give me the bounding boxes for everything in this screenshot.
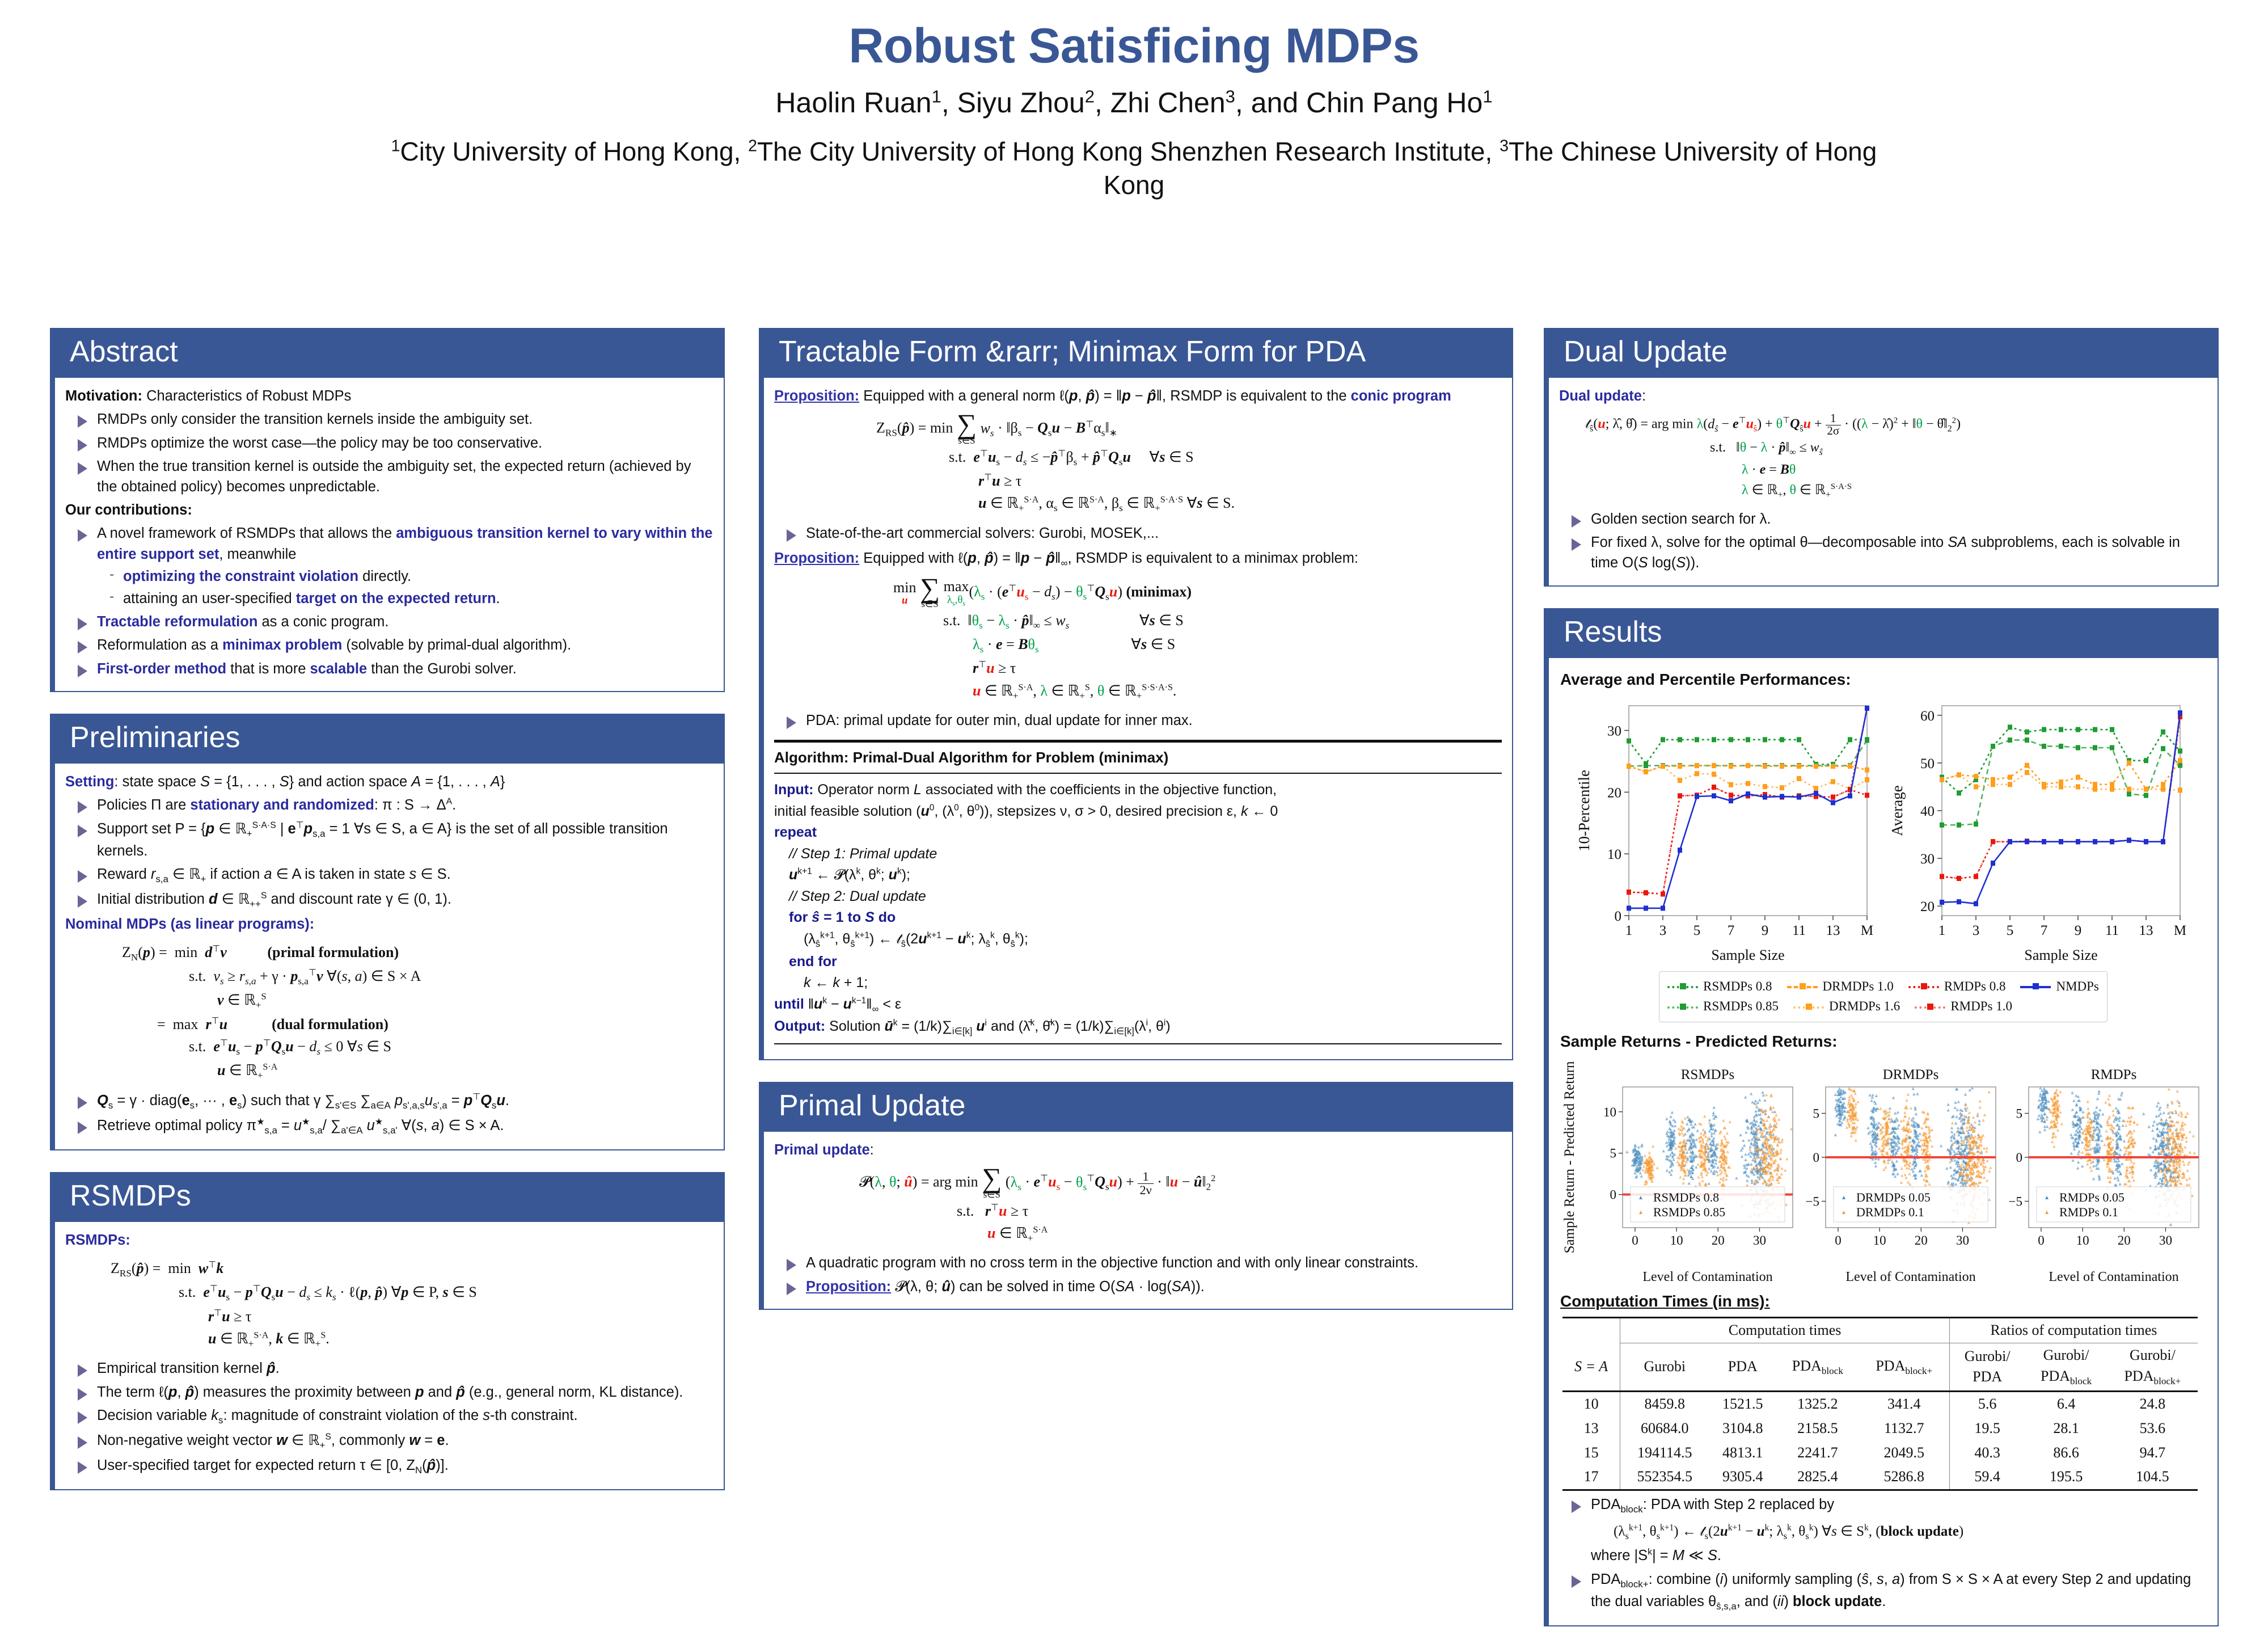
- list-item: For fixed λ, solve for the optimal θ—dec…: [1559, 532, 2207, 573]
- svg-text:Sample Size: Sample Size: [2024, 947, 2097, 963]
- table-col-ratio-pda: Gurobi/PDA: [1949, 1343, 2025, 1391]
- algorithm-output-label: Output:: [774, 1018, 825, 1034]
- proposition-1: Proposition: Equipped with a general nor…: [774, 386, 1502, 406]
- list-item: A quadratic program with no cross term i…: [774, 1253, 1502, 1273]
- svg-text:DRMDPs: DRMDPs: [1883, 1067, 1939, 1082]
- list-item: Initial distribution d ∈ ℝ++S and discou…: [65, 889, 713, 911]
- table-col-gurobi: Gurobi: [1620, 1343, 1709, 1391]
- primal-update-bullets: A quadratic program with no cross term i…: [774, 1253, 1502, 1296]
- table-cell: 9305.4: [1709, 1465, 1776, 1490]
- legend-label: DRMDPs 1.6: [1829, 997, 1900, 1016]
- table-corner-cell: [1562, 1318, 1620, 1343]
- contribution-sub-bullets: optimizing the constraint violation dire…: [97, 566, 713, 609]
- table-cell: 59.4: [1949, 1465, 2025, 1490]
- list-item: optimizing the constraint violation dire…: [97, 566, 713, 587]
- panel-preliminaries-body: Setting: state space S = {1, . . . , S} …: [55, 764, 725, 1150]
- chart-10-percentile: 0102030135791113MSample Size10-Percentil…: [1577, 696, 1877, 968]
- legend-marker-nmdps: [2020, 983, 2051, 991]
- svg-text:Sample Return - Predicted Retu: Sample Return - Predicted Return: [1562, 1061, 1577, 1253]
- algorithm-k-line: k ← k + 1;: [774, 972, 1502, 994]
- list-item: First-order method that is more scalable…: [65, 659, 713, 679]
- table-cell: 4813.1: [1709, 1441, 1776, 1465]
- minimax-formula: minu ∑s∈S maxλs,θs(λs · (e⊤us − ds) − θs…: [893, 577, 1502, 703]
- svg-text:20: 20: [1607, 785, 1621, 800]
- table-row: 1360684.03104.82158.51132.719.528.153.6: [1562, 1417, 2198, 1441]
- list-item: Reformulation as a minimax problem (solv…: [65, 635, 713, 655]
- table-cell: 6.4: [2025, 1391, 2107, 1416]
- primal-update-label-line: Primal update:: [774, 1140, 1502, 1160]
- algorithm-step1: uk+1 ← 𝓟(λk, θk; uk);: [774, 865, 1502, 886]
- block-update-formula: (λsk+1, θsk+1) ← 𝓉s(2uk+1 − uk; λsk, θsk…: [1614, 1521, 2207, 1543]
- list-item: A novel framework of RSMDPs that allows …: [65, 523, 713, 609]
- panel-primal-heading: Primal Update: [764, 1082, 1513, 1132]
- table-col-pdablockplus: PDAblock+: [1859, 1343, 1950, 1391]
- svg-text:10: 10: [1873, 1233, 1886, 1247]
- svg-text:13: 13: [1826, 923, 1840, 938]
- svg-text:11: 11: [2105, 923, 2118, 938]
- ratio3-bot: PDA: [2124, 1368, 2153, 1384]
- svg-text:40: 40: [1920, 804, 1935, 819]
- svg-text:10: 10: [1607, 847, 1621, 862]
- table-cell: 53.6: [2107, 1417, 2198, 1441]
- table-cell: 3104.8: [1709, 1417, 1776, 1441]
- note-pdablock: PDAblock: PDA with Step 2 replaced by: [1591, 1497, 1834, 1512]
- svg-text:9: 9: [2074, 923, 2081, 938]
- column-middle: Tractable Form &rarr; Minimax Form for P…: [759, 328, 1513, 1331]
- primal-update-formula: 𝓟(λ, θ; û) = arg min ∑s∈S (λs · e⊤us − …: [859, 1167, 1502, 1246]
- algorithm-step2-comment: // Step 2: Dual update: [774, 886, 1502, 908]
- results-notes: PDAblock: PDA with Step 2 replaced by (λ…: [1559, 1494, 2207, 1613]
- table-group-header-ratios: Ratios of computation times: [1949, 1318, 2198, 1343]
- legend-marker-rmdps-10: [1915, 1003, 1945, 1011]
- table-cell: 24.8: [2107, 1391, 2198, 1416]
- author-list: Haolin Ruan1, Siyu Zhou2, Zhi Chen3, and…: [0, 86, 2268, 119]
- table-cell: 5286.8: [1859, 1465, 1950, 1490]
- motivation-bullets: RMDPs only consider the transition kerne…: [65, 409, 713, 497]
- table-col-pdablock-main: PDA: [1792, 1358, 1822, 1374]
- svg-text:RMDPs 0.1: RMDPs 0.1: [2059, 1205, 2118, 1219]
- panel-results: Results Average and Percentile Performan…: [1544, 608, 2219, 1626]
- algorithm-until-label: until: [774, 996, 804, 1012]
- panel-abstract-heading: Abstract: [55, 328, 725, 378]
- rsmdps-label: RSMDPs:: [65, 1230, 713, 1250]
- list-item: attaining an user-specified target on th…: [97, 588, 713, 609]
- table-cell: 15: [1562, 1441, 1620, 1465]
- list-item: RMDPs optimize the worst case—the policy…: [65, 433, 713, 453]
- proposition-2: Proposition: Equipped with ℓ(p, p̂) = ‖p…: [774, 548, 1502, 570]
- panel-dual-update: Dual Update Dual update: 𝓉ŝ(u; λ̂, θ̂) …: [1544, 328, 2219, 587]
- table-cell: 194114.5: [1620, 1441, 1709, 1465]
- table-cell: 19.5: [1949, 1417, 2025, 1441]
- motivation-label: Motivation:: [65, 388, 142, 404]
- panel-tractable-body: Proposition: Equipped with a general nor…: [764, 378, 1513, 1060]
- table-col-ratio-pdablockplus: Gurobi/PDAblock+: [2107, 1343, 2198, 1391]
- svg-text:Sample Size: Sample Size: [1711, 947, 1784, 963]
- nominal-mdp-label: Nominal MDPs (as linear programs):: [65, 914, 713, 934]
- algorithm-until-line: until ‖uk − uk−1‖∞ < ε: [774, 994, 1502, 1017]
- list-item: Reward rs,a ∈ ℝ+ if action a ∈ A is take…: [65, 864, 713, 886]
- algorithm-for-line: for ŝ = 1 to S do: [774, 907, 1502, 929]
- svg-text:5: 5: [1610, 1146, 1617, 1160]
- panel-tractable-form: Tractable Form &rarr; Minimax Form for P…: [759, 328, 1513, 1060]
- table-cell: 2049.5: [1859, 1441, 1950, 1465]
- panel-dual-body: Dual update: 𝓉ŝ(u; λ̂, θ̂) = arg min λ(…: [1549, 378, 2219, 586]
- legend-label: RSMDPs 0.85: [1703, 997, 1779, 1016]
- table-col-pdablock: PDAblock: [1776, 1343, 1859, 1391]
- table-col-pda: PDA: [1709, 1343, 1776, 1391]
- table-col-pdablockplus-sub: block+: [1905, 1365, 1932, 1376]
- line-chart-legend: RSMDPs 0.8 DRMDPs 1.0 RMDPs 0.8 NMDPs RS…: [1659, 971, 2107, 1022]
- svg-text:−5: −5: [1806, 1194, 1819, 1208]
- ratio1-top: Gurobi/: [1965, 1348, 2011, 1364]
- rsmdps-bullets: Empirical transition kernel p̂. The term…: [65, 1358, 713, 1477]
- svg-text:10: 10: [1603, 1105, 1616, 1119]
- list-item: PDA: primal update for outer min, dual u…: [774, 710, 1502, 731]
- line-chart-row: 0102030135791113MSample Size10-Percentil…: [1559, 696, 2207, 968]
- table-cell: 1325.2: [1776, 1391, 1859, 1416]
- column-left: Abstract Motivation: Characteristics of …: [50, 328, 725, 1512]
- table-cell: 28.1: [2025, 1417, 2107, 1441]
- algorithm-bottom-rule: [774, 1043, 1502, 1044]
- setting-text: : state space S = {1, . . . , S} and act…: [114, 774, 505, 790]
- legend-marker-rsmdps-08: [1667, 983, 1698, 991]
- svg-text:30: 30: [1956, 1233, 1969, 1247]
- setting-line: Setting: state space S = {1, . . . , S} …: [65, 772, 713, 792]
- svg-text:0: 0: [1835, 1233, 1842, 1247]
- preliminaries-bullets: Policies Π are stationary and randomized…: [65, 795, 713, 911]
- table-col-pdablockplus-main: PDA: [1876, 1358, 1905, 1374]
- table-col-sa-label: S = A: [1574, 1358, 1608, 1375]
- svg-text:RMDPs: RMDPs: [2091, 1067, 2137, 1082]
- table-row: 17552354.59305.42825.45286.859.4195.5104…: [1562, 1465, 2198, 1490]
- svg-text:30: 30: [1607, 723, 1621, 739]
- algorithm-endfor: end for: [774, 951, 1502, 973]
- table-col-pdablock-sub: block: [1822, 1365, 1843, 1376]
- svg-text:RSMDPs 0.85: RSMDPs 0.85: [1653, 1205, 1725, 1219]
- table-cell: 341.4: [1859, 1391, 1950, 1416]
- svg-text:30: 30: [1920, 852, 1935, 867]
- list-item: RMDPs only consider the transition kerne…: [65, 409, 713, 429]
- svg-text:13: 13: [2139, 923, 2153, 938]
- motivation-text: Characteristics of Robust MDPs: [146, 388, 351, 404]
- pda-bullet-list: PDA: primal update for outer min, dual u…: [774, 710, 1502, 731]
- table-cell: 2825.4: [1776, 1465, 1859, 1490]
- svg-text:5: 5: [2016, 1106, 2023, 1120]
- ratio2-bot: PDA: [2041, 1368, 2070, 1384]
- column-right: Dual Update Dual update: 𝓉ŝ(u; λ̂, θ̂) …: [1544, 328, 2219, 1648]
- list-item: The term ℓ(p, p̂) measures the proximity…: [65, 1382, 713, 1402]
- chart-average: 2030405060135791113MSample SizeAverage: [1890, 696, 2190, 968]
- svg-text:M: M: [1860, 923, 1873, 938]
- results-subheading-times: Computation Times (in ms):: [1560, 1290, 2207, 1313]
- svg-text:M: M: [2173, 923, 2186, 938]
- table-cell: 1521.5: [1709, 1391, 1776, 1416]
- table-cell: 195.5: [2025, 1465, 2107, 1490]
- table-cell: 2241.7: [1776, 1441, 1859, 1465]
- svg-text:Average: Average: [1890, 785, 1906, 836]
- legend-label: RMDPs 1.0: [1950, 997, 2012, 1016]
- legend-label: NMDPs: [2056, 977, 2098, 996]
- ratio3-top: Gurobi/: [2130, 1347, 2176, 1363]
- svg-text:9: 9: [1761, 923, 1768, 938]
- algorithm-input-line-2: initial feasible solution (u0, (λ0, θ0))…: [774, 801, 1502, 823]
- table-cell: 1132.7: [1859, 1417, 1950, 1441]
- primal-update-label: Primal update: [774, 1142, 870, 1158]
- algorithm-output-text: Solution ūk = (1/k)∑i∈[k] ui and (λ̄k, …: [825, 1018, 1170, 1034]
- svg-text:5: 5: [1693, 923, 1700, 938]
- svg-text:20: 20: [1915, 1233, 1928, 1247]
- svg-text:0: 0: [1614, 909, 1621, 924]
- svg-text:60: 60: [1920, 708, 1935, 723]
- contribution-bullets: A novel framework of RSMDPs that allows …: [65, 523, 713, 678]
- svg-text:3: 3: [1972, 923, 1979, 938]
- solver-bullet-list: State-of-the-art commercial solvers: Gur…: [774, 523, 1502, 543]
- results-subheading-returns: Sample Returns - Predicted Returns:: [1560, 1030, 2207, 1053]
- algorithm-top-rule: [774, 740, 1502, 743]
- contribution-main: A novel framework of RSMDPs that allows …: [97, 525, 712, 562]
- list-item: State-of-the-art commercial solvers: Gur…: [774, 523, 1502, 543]
- legend-item: RMDPs 0.8: [1908, 977, 2006, 996]
- svg-text:20: 20: [2118, 1233, 2131, 1247]
- algorithm-repeat: repeat: [774, 822, 1502, 844]
- scatter-chart-row: RSMDPs05100102030Level of ContaminationS…: [1559, 1057, 2207, 1284]
- svg-text:RSMDPs 0.8: RSMDPs 0.8: [1653, 1190, 1719, 1204]
- table-cell: 552354.5: [1620, 1465, 1709, 1490]
- list-item: Support set P = {p ∈ ℝ+S·A·S | e⊤ps,a = …: [65, 819, 713, 861]
- legend-row-2: RSMDPs 0.85 DRMDPs 1.6 RMDPs 1.0: [1667, 997, 2099, 1016]
- table-group-header-computation: Computation times: [1620, 1318, 1950, 1343]
- rsmdps-formula: ZRS(p̂) = min w⊤k s.t. e⊤us − p⊤Qsu − ds…: [111, 1257, 713, 1351]
- svg-text:0: 0: [2038, 1233, 2045, 1247]
- proposition-2-text: Equipped with ℓ(p, p̂) = ‖p − p̂‖∞, RSMD…: [859, 550, 1358, 566]
- proposition-2-label: Proposition:: [774, 550, 859, 566]
- panel-preliminaries: Preliminaries Setting: state space S = {…: [50, 714, 725, 1150]
- legend-marker-rsmdps-085: [1667, 1003, 1698, 1011]
- svg-text:5: 5: [1813, 1106, 1820, 1120]
- list-item: Non-negative weight vector w ∈ ℝ+S, comm…: [65, 1430, 713, 1452]
- svg-text:11: 11: [1792, 923, 1805, 938]
- svg-text:DRMDPs 0.1: DRMDPs 0.1: [1856, 1205, 1924, 1219]
- proposition-1-text: Equipped with a general norm ℓ(p, p̂) = …: [859, 388, 1451, 404]
- dual-update-bullets: Golden section search for λ. For fixed λ…: [1559, 509, 2207, 574]
- table-body: 108459.81521.51325.2341.45.66.424.813606…: [1562, 1391, 2198, 1490]
- algorithm-until-text: ‖uk − uk−1‖∞ < ε: [804, 996, 901, 1012]
- panel-preliminaries-heading: Preliminaries: [55, 714, 725, 764]
- svg-text:10: 10: [1670, 1233, 1683, 1247]
- legend-item: RSMDPs 0.8: [1667, 977, 1772, 996]
- svg-text:RMDPs 0.05: RMDPs 0.05: [2059, 1190, 2125, 1204]
- preliminaries-tail-bullets: Qs = γ · diag(es, ··· , es) such that γ …: [65, 1090, 713, 1137]
- nominal-mdp-formula: ZN(p) = min d⊤v (primal formulation) s.t…: [122, 941, 713, 1084]
- list-item: PDAblock+: combine (i) uniformly samplin…: [1559, 1569, 2207, 1613]
- algorithm-dual-line: (λŝk+1, θŝk+1) ← 𝓉ŝ(2uk+1 − uk; λŝk,…: [774, 929, 1502, 951]
- conic-program-formula: ZRS(p̂) = min ∑s∈S ws · ‖βs − Qsu − B⊤αs…: [876, 413, 1502, 516]
- svg-text:3: 3: [1659, 923, 1666, 938]
- svg-text:20: 20: [1920, 899, 1935, 914]
- dual-update-label: Dual update: [1559, 388, 1642, 404]
- panel-rsmdps-body: RSMDPs: ZRS(p̂) = min w⊤k s.t. e⊤us − p⊤…: [55, 1222, 725, 1490]
- legend-item: DRMDPs 1.0: [1787, 977, 1894, 996]
- table-cell: 10: [1562, 1391, 1620, 1416]
- algorithm-mid-rule: [774, 773, 1502, 774]
- svg-text:10-Percentile: 10-Percentile: [1577, 770, 1593, 852]
- panel-rsmdps-heading: RSMDPs: [55, 1172, 725, 1222]
- list-item: Decision variable ks: magnitude of const…: [65, 1405, 713, 1427]
- legend-row-1: RSMDPs 0.8 DRMDPs 1.0 RMDPs 0.8 NMDPs: [1667, 977, 2099, 996]
- ratio1-bot: PDA: [1973, 1368, 2002, 1385]
- list-item: Tractable reformulation as a conic progr…: [65, 612, 713, 632]
- note-block-size: where |Sk| = M ≪ S.: [1591, 1545, 2207, 1566]
- list-item: Empirical transition kernel p̂.: [65, 1358, 713, 1379]
- list-item: Qs = γ · diag(es, ··· , es) such that γ …: [65, 1090, 713, 1112]
- table-cell: 2158.5: [1776, 1417, 1859, 1441]
- table-column-header-row: S = A Gurobi PDA PDAblock PDAblock+ Guro…: [1562, 1343, 2198, 1391]
- table-col-ratio-pdablock: Gurobi/PDAblock: [2025, 1343, 2107, 1391]
- svg-text:RSMDPs: RSMDPs: [1681, 1067, 1735, 1082]
- svg-text:0: 0: [1632, 1233, 1638, 1247]
- table-cell: 13: [1562, 1417, 1620, 1441]
- legend-label: DRMDPs 1.0: [1823, 977, 1894, 996]
- svg-text:Level of Contamination: Level of Contamination: [1642, 1270, 1772, 1284]
- svg-text:50: 50: [1920, 756, 1935, 771]
- svg-text:20: 20: [1712, 1233, 1725, 1247]
- panel-rsmdps: RSMDPs RSMDPs: ZRS(p̂) = min w⊤k s.t. e⊤…: [50, 1172, 725, 1490]
- legend-marker-drmdps-16: [1793, 1003, 1824, 1011]
- table-col-sa: S = A: [1562, 1343, 1620, 1391]
- results-subheading-performance: Average and Percentile Performances:: [1560, 668, 2207, 691]
- panel-tractable-heading: Tractable Form &rarr; Minimax Form for P…: [764, 328, 1513, 378]
- table-head: Computation times Ratios of computation …: [1562, 1318, 2198, 1391]
- ratio2-bot-sub: block: [2070, 1376, 2092, 1386]
- legend-marker-drmdps-10: [1787, 983, 1818, 991]
- list-item: Retrieve optimal policy π★s,a = u★s,a/ ∑…: [65, 1115, 713, 1137]
- panel-abstract: Abstract Motivation: Characteristics of …: [50, 328, 725, 692]
- table-cell: 5.6: [1949, 1391, 2025, 1416]
- algorithm-title: Algorithm: Primal-Dual Algorithm for Pro…: [774, 747, 1502, 768]
- legend-item: NMDPs: [2020, 977, 2098, 996]
- panel-results-heading: Results: [1549, 608, 2219, 658]
- table-row: 15194114.54813.12241.72049.540.386.694.7: [1562, 1441, 2198, 1465]
- table-cell: 60684.0: [1620, 1417, 1709, 1441]
- panel-abstract-body: Motivation: Characteristics of Robust MD…: [55, 378, 725, 692]
- panel-results-body: Average and Percentile Performances: 010…: [1549, 658, 2219, 1626]
- svg-text:DRMDPs 0.05: DRMDPs 0.05: [1856, 1190, 1931, 1204]
- svg-text:Level of Contamination: Level of Contamination: [1845, 1270, 1975, 1284]
- legend-item: RSMDPs 0.85: [1667, 997, 1779, 1016]
- ratio3-bot-sub: block+: [2153, 1376, 2181, 1386]
- legend-marker-rmdps-08: [1908, 983, 1939, 991]
- algorithm-input-text-1: Operator norm L associated with the coef…: [813, 782, 1277, 798]
- panel-dual-heading: Dual Update: [1549, 328, 2219, 378]
- legend-label: RMDPs 0.8: [1944, 977, 2006, 996]
- motivation-line: Motivation: Characteristics of Robust MD…: [65, 386, 713, 406]
- svg-text:7: 7: [2040, 923, 2047, 938]
- proposition-1-label: Proposition:: [774, 388, 859, 404]
- svg-text:7: 7: [1727, 923, 1734, 938]
- svg-text:10: 10: [2076, 1233, 2089, 1247]
- affiliation-list: 1City University of Hong Kong, 2The City…: [369, 135, 1900, 202]
- panel-primal-body: Primal update: 𝓟(λ, θ; û) = arg min ∑s∈…: [764, 1132, 1513, 1310]
- algorithm-box: Algorithm: Primal-Dual Algorithm for Pro…: [774, 740, 1502, 1044]
- setting-label: Setting: [65, 774, 114, 790]
- computation-times-table: Computation times Ratios of computation …: [1562, 1317, 2198, 1491]
- algorithm-output-line: Output: Solution ūk = (1/k)∑i∈[k] ui an…: [774, 1016, 1502, 1039]
- table-cell: 94.7: [2107, 1441, 2198, 1465]
- svg-text:0: 0: [1610, 1187, 1617, 1202]
- legend-item: DRMDPs 1.6: [1793, 997, 1900, 1016]
- svg-text:1: 1: [1938, 923, 1945, 938]
- table-cell: 17: [1562, 1465, 1620, 1490]
- list-item: When the true transition kernel is outsi…: [65, 456, 713, 497]
- table-group-header-row: Computation times Ratios of computation …: [1562, 1318, 2198, 1343]
- table-row: 108459.81521.51325.2341.45.66.424.8: [1562, 1391, 2198, 1416]
- table-cell: 8459.8: [1620, 1391, 1709, 1416]
- dual-update-label-line: Dual update:: [1559, 386, 2207, 406]
- algorithm-body: Input: Operator norm L associated with t…: [774, 779, 1502, 1039]
- dual-update-formula: 𝓉ŝ(u; λ̂, θ̂) = arg min λ(dŝ − e⊤uŝ) …: [1585, 413, 2207, 502]
- legend-label: RSMDPs 0.8: [1703, 977, 1772, 996]
- page-title: Robust Satisficing MDPs: [0, 0, 2268, 71]
- svg-text:0: 0: [2016, 1150, 2023, 1165]
- algorithm-input-label: Input:: [774, 782, 813, 798]
- svg-text:30: 30: [2159, 1233, 2172, 1247]
- panel-primal-update: Primal Update Primal update: 𝓟(λ, θ; û)…: [759, 1082, 1513, 1310]
- table-cell: 86.6: [2025, 1441, 2107, 1465]
- svg-text:Level of Contamination: Level of Contamination: [2049, 1270, 2178, 1284]
- list-item: PDAblock: PDA with Step 2 replaced by (λ…: [1559, 1494, 2207, 1566]
- list-item: User-specified target for expected retur…: [65, 1455, 713, 1477]
- svg-text:5: 5: [2006, 923, 2013, 938]
- list-item: Policies Π are stationary and randomized…: [65, 795, 713, 815]
- contributions-label: Our contributions:: [65, 500, 713, 520]
- svg-text:30: 30: [1753, 1233, 1766, 1247]
- svg-text:−5: −5: [2009, 1194, 2022, 1208]
- list-item: Golden section search for λ.: [1559, 509, 2207, 529]
- svg-text:1: 1: [1625, 923, 1632, 938]
- algorithm-input-line-1: Input: Operator norm L associated with t…: [774, 779, 1502, 801]
- legend-item: RMDPs 1.0: [1915, 997, 2012, 1016]
- algorithm-step1-comment: // Step 1: Primal update: [774, 844, 1502, 865]
- svg-text:0: 0: [1813, 1150, 1820, 1165]
- list-item: Proposition: 𝓟(λ, θ; û) can be solved i…: [774, 1276, 1502, 1297]
- table-cell: 40.3: [1949, 1441, 2025, 1465]
- ratio2-top: Gurobi/: [2043, 1347, 2089, 1363]
- table-cell: 104.5: [2107, 1465, 2198, 1490]
